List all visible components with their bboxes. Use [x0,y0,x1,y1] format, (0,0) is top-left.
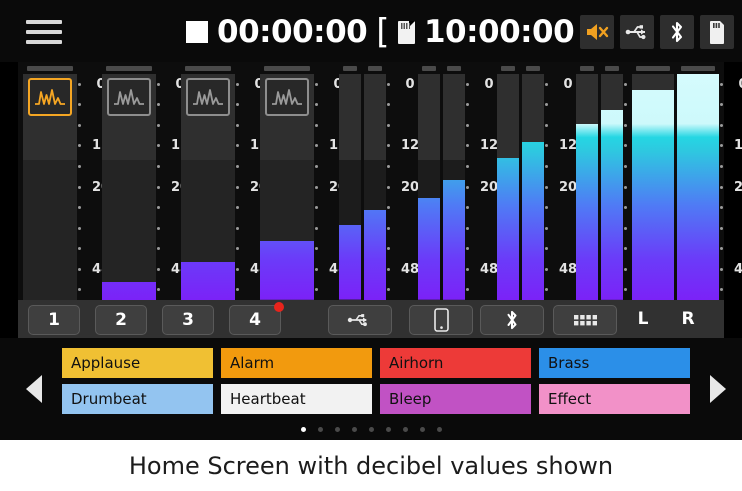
phone-meter-right [443,62,465,300]
db-scale-tick [720,243,742,255]
meter-cap [422,66,436,71]
page-dot[interactable] [335,427,340,432]
sound-pad-meter-right [601,62,623,300]
button-label: 3 [182,310,194,330]
transport-timecode-group: 00:00:00 [ 10:00:00 ] [186,11,596,53]
page-dot[interactable] [352,427,357,432]
channel-2[interactable] [102,62,156,300]
meter-cap [447,66,461,71]
bluetooth-meter-left [497,62,519,300]
waveform-icon[interactable] [265,78,309,116]
meter-cap [605,66,619,71]
db-scale-label: 0 [720,78,742,90]
meter-headroom-shade [339,74,361,160]
meter-level-fill [260,241,314,300]
meter-level-fill [632,90,674,300]
sound-pad[interactable]: Airhorn [380,348,531,378]
sound-pad[interactable]: Alarm [221,348,372,378]
meter-level-fill [522,142,544,300]
db-scale-label: 48 [720,263,742,275]
sound-pad-label: Effect [548,390,591,408]
sound-pad-label: Heartbeat [230,390,306,408]
meter-cap [636,66,670,71]
timecode-remaining: 10:00:00 [424,14,574,50]
channel-button-1[interactable]: 1 [28,305,80,335]
db-scale-label: 12 [720,140,742,152]
triangle-left-icon[interactable] [26,375,42,403]
db-scale-label: 20 [720,181,742,193]
db-scale-tick [720,99,742,111]
meter-level-fill [443,180,465,300]
meter-track [443,74,465,300]
meter-level-fill [339,225,361,300]
sound-pad[interactable]: Applause [62,348,213,378]
channel-button-2[interactable]: 2 [95,305,147,335]
channel-4[interactable] [260,62,314,300]
bluetooth-meter-right [522,62,544,300]
meter-headroom-shade [443,74,465,160]
page-dot[interactable] [420,427,425,432]
meter-cap [526,66,540,71]
db-scale-tick [720,284,742,296]
usb-meter-left [339,62,361,300]
meter-track [601,74,623,300]
meter-track [497,74,519,300]
master-meter-l [632,62,674,300]
page-dot[interactable] [369,427,374,432]
channel-1[interactable] [23,62,77,300]
sound-pad-label: Bleep [389,390,431,408]
meter-level-fill [418,198,440,300]
meter-level-fill [601,110,623,300]
db-scale-tick [720,160,742,172]
hamburger-menu-icon[interactable] [26,20,62,44]
waveform-icon[interactable] [28,78,72,116]
meter-headroom-shade [418,74,440,160]
meter-track [339,74,361,300]
waveform-icon[interactable] [186,78,230,116]
meter-cap [681,66,715,71]
bracket-open: [ [376,12,389,52]
meter-track [576,74,598,300]
device-screen: 00:00:00 [ 10:00:00 ] [0,0,742,440]
figure-caption: Home Screen with decibel values shown [0,440,742,491]
phone-button[interactable] [409,305,473,335]
bluetooth-button[interactable] [480,305,544,335]
master-label-l: L [623,305,663,333]
sound-pad-grid: ApplauseAlarmAirhornBrassDrumbeatHeartbe… [62,348,690,414]
meter-cap [27,66,73,71]
page-dot[interactable] [403,427,408,432]
usb-icon[interactable] [620,15,654,49]
button-label: 1 [48,310,60,330]
sd-card-icon [398,21,415,44]
sound-pad[interactable]: Effect [539,384,690,414]
meter-level-fill [102,282,156,300]
meter-cap [343,66,357,71]
master-label-r: R [668,305,708,333]
usb-icon [347,312,373,328]
meter-level-fill [677,74,719,300]
db-scale: 0122048 [720,74,742,300]
meter-track [632,74,674,300]
meter-cap [106,66,152,71]
sd-card-icon[interactable] [700,15,734,49]
db-scale-tick [720,119,742,131]
hamburger-bar [26,30,62,34]
master-meter-r [677,62,719,300]
hamburger-bar [26,40,62,44]
sound-pad[interactable]: Brass [539,348,690,378]
bluetooth-icon [505,309,519,331]
triangle-right-icon[interactable] [710,375,726,403]
meter-level-fill [497,158,519,300]
sound-pad[interactable]: Bleep [380,384,531,414]
status-icon-group [580,14,734,50]
sound-pad[interactable]: Drumbeat [62,384,213,414]
usb-button[interactable] [328,305,392,335]
meter-headroom-shade [364,74,386,160]
meter-cap [185,66,231,71]
recording-badge [274,302,284,312]
meter-level-fill [181,262,235,300]
channel-3[interactable] [181,62,235,300]
meter-cap [580,66,594,71]
waveform-icon[interactable] [107,78,151,116]
sound-pad-label: Applause [71,354,140,372]
timecode-elapsed: 00:00:00 [217,14,367,50]
bluetooth-icon[interactable] [660,15,694,49]
page-dot[interactable] [437,427,442,432]
button-label: 2 [115,310,127,330]
meter-track [522,74,544,300]
sound-pad-button[interactable] [553,305,617,335]
smartphone-icon [434,308,449,332]
sound-pad-label: Alarm [230,354,274,372]
sound-pad-meter-left [576,62,598,300]
status-header: 00:00:00 [ 10:00:00 ] [0,0,742,62]
usb-meter-right [364,62,386,300]
meter-track [677,74,719,300]
sound-pad-label: Drumbeat [71,390,147,408]
sound-pad[interactable]: Heartbeat [221,384,372,414]
page-dot[interactable] [318,427,323,432]
pad-page-indicator [0,427,742,432]
channel-button-3[interactable]: 3 [162,305,214,335]
meter-track [364,74,386,300]
meter-level-fill [364,210,386,300]
speaker-mute-icon[interactable] [580,15,614,49]
sound-pad-panel: ApplauseAlarmAirhornBrassDrumbeatHeartbe… [0,338,742,440]
button-label: 4 [249,310,261,330]
stop-square-icon [186,21,208,43]
sound-pad-label: Airhorn [389,354,443,372]
level-meter-panel: 0122048012204801220480122048012204801220… [18,62,724,300]
channel-button-4[interactable]: 4 [229,305,281,335]
phone-meter-left [418,62,440,300]
meter-cap [368,66,382,71]
grid-pad-icon [572,311,598,329]
source-button-bar: 1234LR [18,300,724,338]
sound-pad-label: Brass [548,354,589,372]
page-dot[interactable] [386,427,391,432]
meter-track [418,74,440,300]
db-scale-tick [720,202,742,214]
meter-cap [264,66,310,71]
hamburger-bar [26,20,62,24]
page-dot[interactable] [301,427,306,432]
db-scale-tick [720,222,742,234]
meter-headroom-shade [497,74,519,160]
meter-cap [501,66,515,71]
meter-level-fill [576,124,598,300]
